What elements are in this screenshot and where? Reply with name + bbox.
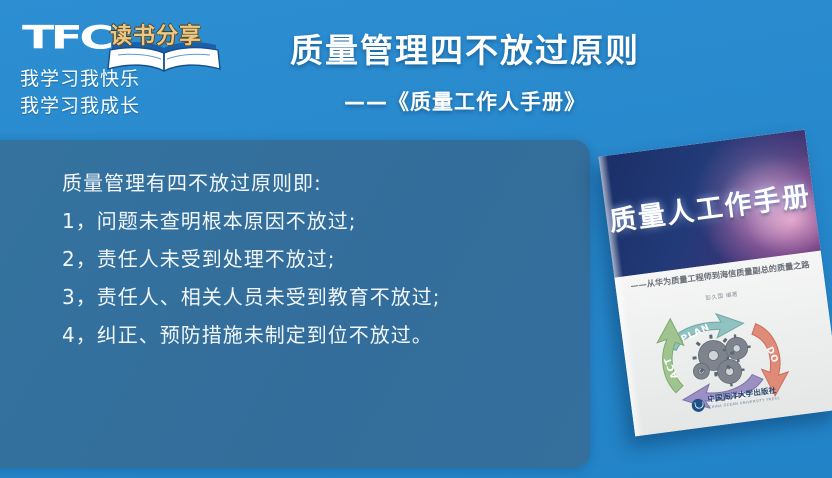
principle-item-3: 3，责任人、相关人员未受到教育不放过; bbox=[62, 278, 590, 316]
slide-canvas: TFC 读书分享 我学习我快乐 我学习我成长 质量管理四不放过原则 ——《质量工… bbox=[0, 0, 832, 478]
principle-item-2: 2，责任人未受到处理不放过; bbox=[62, 240, 590, 278]
tfc-logo: TFC bbox=[22, 22, 110, 54]
book-cover-image: 质量人工作手册 ——从华为质量工程师到海信质量副总的质量之路 彭久国 编著 PL… bbox=[598, 130, 832, 437]
content-panel-body: 质量管理有四不放过原则即: 1，问题未查明根本原因不放过; 2，责任人未受到处理… bbox=[0, 140, 590, 354]
principles-lead: 质量管理有四不放过原则即: bbox=[62, 164, 590, 202]
slogan-line-2: 我学习我成长 bbox=[14, 93, 244, 120]
principle-item-1: 1，问题未查明根本原因不放过; bbox=[62, 202, 590, 240]
logo-row: TFC 读书分享 bbox=[14, 10, 244, 66]
reading-share-badge: 读书分享 bbox=[110, 24, 216, 70]
page-subtitle: ——《质量工作人手册》 bbox=[240, 86, 690, 116]
page-title: 质量管理四不放过原则 bbox=[240, 24, 690, 72]
brand-block: TFC 读书分享 我学习我快乐 我学习我成长 bbox=[14, 10, 244, 130]
principle-item-4: 4，纠正、预防措施未制定到位不放过。 bbox=[62, 316, 590, 354]
content-panel: 质量管理有四不放过原则即: 1，问题未查明根本原因不放过; 2，责任人未受到处理… bbox=[0, 140, 590, 468]
publisher-logo-icon bbox=[691, 398, 706, 413]
reading-share-label: 读书分享 bbox=[110, 24, 216, 48]
